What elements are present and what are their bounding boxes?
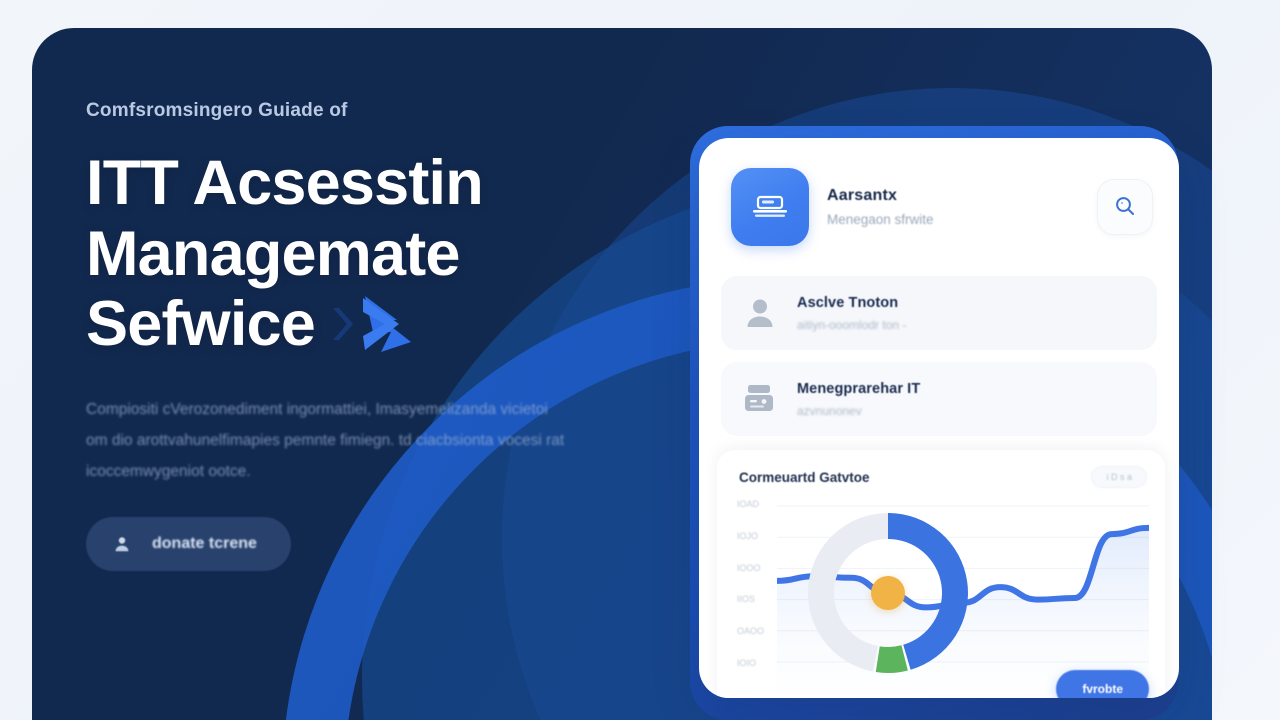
poster-stage: Comfsromsingero Guiade of ITT Acsesstin … [0,0,1280,720]
donut-center-dot [871,576,905,610]
chevron-right-icon [331,292,417,356]
laptop-icon [731,168,809,246]
card-title: Aarsantx [827,187,1079,205]
list-item-title: Asclve Tnoton [797,295,1139,311]
list-item[interactable]: Menegprarehar IT azvnunonev [721,362,1157,436]
page-title: ITT Acsesstin Managemate Sefwice [86,148,646,360]
card-header-text: Aarsantx Menegaon sfrwite [827,187,1079,227]
list-item-subtitle: azvnunonev [797,404,1139,418]
list-item-text: Asclve Tnoton aitiyn-ooomlodr ton - [797,295,1139,332]
chart-body: IOAD IOJO IOOO IIOS OAOO IOIO [733,494,1149,698]
y-axis-tick: IOAD [737,500,764,509]
list-item-text: Menegprarehar IT azvnunonev [797,381,1139,418]
hero-cta-button[interactable]: donate tcrene [86,517,291,571]
donut-chart [799,504,977,682]
search-icon [1113,194,1137,221]
search-button[interactable] [1097,179,1153,235]
headline-line-1: ITT Acsesstin [86,148,646,219]
chart-y-axis: IOAD IOJO IOOO IIOS OAOO IOIO [737,500,764,668]
list-item-title: Menegprarehar IT [797,381,1139,397]
y-axis-tick: IOIO [737,659,764,668]
app-preview-card: Aarsantx Menegaon sfrwite [699,138,1179,698]
y-axis-tick: OAOO [737,627,764,636]
chart-plot-area [777,494,1149,694]
hero-paragraph: Compiositi cVerozonediment ingormattiei,… [86,394,566,487]
headline-line-3: Sefwice [86,289,315,360]
hero-copy: Comfsromsingero Guiade of ITT Acsesstin … [86,100,646,571]
chart-cta-button[interactable]: fvrobte [1056,670,1149,698]
headline-line-3-row: Sefwice [86,289,646,360]
chart-panel: Cormeuartd Gatvtoe i D s a IOAD IOJO IOO… [717,450,1165,698]
donut-segment [876,645,908,673]
hero-cta-label: donate tcrene [152,535,257,553]
card-header: Aarsantx Menegaon sfrwite [721,162,1157,264]
chart-badge[interactable]: i D s a [1091,466,1147,488]
hero-eyebrow: Comfsromsingero Guiade of [86,100,646,122]
user-badge-icon [112,534,132,554]
server-card-icon [739,378,781,420]
y-axis-tick: IOOO [737,564,764,573]
headline-line-2: Managemate [86,219,646,290]
list-item[interactable]: Asclve Tnoton aitiyn-ooomlodr ton - [721,276,1157,350]
chart-title: Cormeuartd Gatvtoe [739,470,870,485]
y-axis-tick: IOJO [737,532,764,541]
chart-header: Cormeuartd Gatvtoe i D s a [733,466,1149,494]
card-subtitle: Menegaon sfrwite [827,212,1079,227]
user-avatar-icon [739,292,781,334]
list-item-subtitle: aitiyn-ooomlodr ton - [797,318,1139,332]
y-axis-tick: IIOS [737,595,764,604]
